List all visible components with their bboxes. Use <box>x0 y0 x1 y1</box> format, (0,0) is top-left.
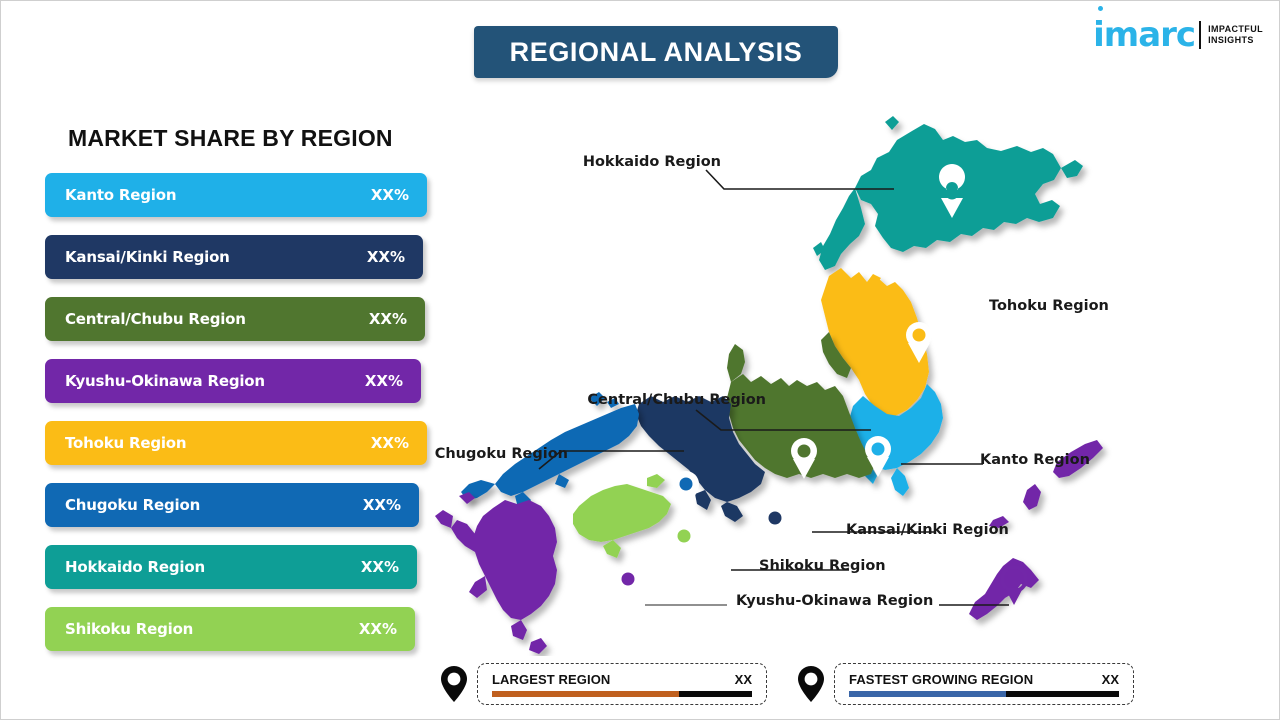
legend-label: Tohoku Region <box>65 434 371 452</box>
largest-region-label: LARGEST REGION <box>492 672 610 687</box>
map-label-tohoku: Tohoku Region <box>989 298 1109 314</box>
legend-value: XX% <box>371 186 409 204</box>
legend-value: XX% <box>363 496 401 514</box>
legend-value: XX% <box>371 434 409 452</box>
map-label-kyushu-okinawa: Kyushu-Okinawa Region <box>736 593 933 609</box>
list-item[interactable]: Hokkaido Region XX% <box>45 545 417 589</box>
largest-region-value: XX <box>735 672 752 687</box>
fastest-region-callout[interactable]: FASTEST GROWING REGION XX <box>796 663 1134 705</box>
map-label-chugoku: Chugoku Region <box>435 446 568 462</box>
fastest-region-value: XX <box>1102 672 1119 687</box>
panel-heading: MARKET SHARE BY REGION <box>68 125 393 152</box>
legend-label: Kyushu-Okinawa Region <box>65 372 365 390</box>
logo-tagline-line1: IMPACTFUL <box>1208 24 1263 35</box>
largest-region-fill <box>492 691 679 697</box>
logo-wordmark: imarc <box>1093 18 1195 52</box>
list-item[interactable]: Central/Chubu Region XX% <box>45 297 425 341</box>
map-label-hokkaido: Hokkaido Region <box>583 154 721 170</box>
legend-label: Central/Chubu Region <box>65 310 369 328</box>
map-region-shikoku[interactable] <box>573 474 671 558</box>
map-label-kansai-kinki: Kansai/Kinki Region <box>846 522 1009 538</box>
map-pin-shikoku[interactable] <box>671 523 697 564</box>
legend-value: XX% <box>361 558 399 576</box>
legend-label: Hokkaido Region <box>65 558 361 576</box>
japan-region-map: Hokkaido Region Tohoku Region Central/Ch… <box>431 96 1161 656</box>
fastest-region-track <box>849 691 1119 697</box>
legend-label: Kanto Region <box>65 186 371 204</box>
page-title: REGIONAL ANALYSIS <box>510 37 803 68</box>
legend-value: XX% <box>369 310 407 328</box>
legend-label: Chugoku Region <box>65 496 363 514</box>
imarc-logo: imarc IMPACTFUL INSIGHTS <box>1093 13 1263 57</box>
largest-region-track <box>492 691 752 697</box>
list-item[interactable]: Tohoku Region XX% <box>45 421 427 465</box>
map-label-shikoku: Shikoku Region <box>759 558 886 574</box>
legend-value: XX% <box>359 620 397 638</box>
map-pin-icon <box>796 665 826 703</box>
legend-value: XX% <box>367 248 405 266</box>
map-pin-chugoku[interactable] <box>673 471 699 512</box>
logo-tagline-line2: INSIGHTS <box>1208 35 1263 46</box>
fastest-region-fill <box>849 691 1006 697</box>
legend-value: XX% <box>365 372 403 390</box>
list-item[interactable]: Kyushu-Okinawa Region XX% <box>45 359 421 403</box>
legend-label: Kansai/Kinki Region <box>65 248 367 266</box>
map-label-central-chubu: Central/Chubu Region <box>587 392 766 408</box>
logo-tagline: IMPACTFUL INSIGHTS <box>1208 24 1263 47</box>
list-item[interactable]: Kanto Region XX% <box>45 173 427 217</box>
largest-region-box: LARGEST REGION XX <box>477 663 767 705</box>
list-item[interactable]: Chugoku Region XX% <box>45 483 419 527</box>
fastest-region-label: FASTEST GROWING REGION <box>849 672 1033 687</box>
list-item[interactable]: Kansai/Kinki Region XX% <box>45 235 423 279</box>
region-legend-list: Kanto Region XX% Kansai/Kinki Region XX%… <box>45 173 445 669</box>
map-region-kyushu[interactable] <box>435 492 557 654</box>
page-title-banner: REGIONAL ANALYSIS <box>474 26 838 78</box>
largest-region-callout[interactable]: LARGEST REGION XX <box>439 663 767 705</box>
slide-root: REGIONAL ANALYSIS imarc IMPACTFUL INSIGH… <box>0 0 1280 720</box>
list-item[interactable]: Shikoku Region XX% <box>45 607 415 651</box>
fastest-region-box: FASTEST GROWING REGION XX <box>834 663 1134 705</box>
logo-dot-icon <box>1098 6 1103 11</box>
legend-label: Shikoku Region <box>65 620 359 638</box>
map-label-kanto: Kanto Region <box>980 452 1090 468</box>
map-pin-kansai[interactable] <box>762 505 788 546</box>
map-pin-kyushu[interactable] <box>615 566 641 607</box>
map-pin-icon <box>439 665 469 703</box>
logo-divider <box>1199 21 1201 49</box>
